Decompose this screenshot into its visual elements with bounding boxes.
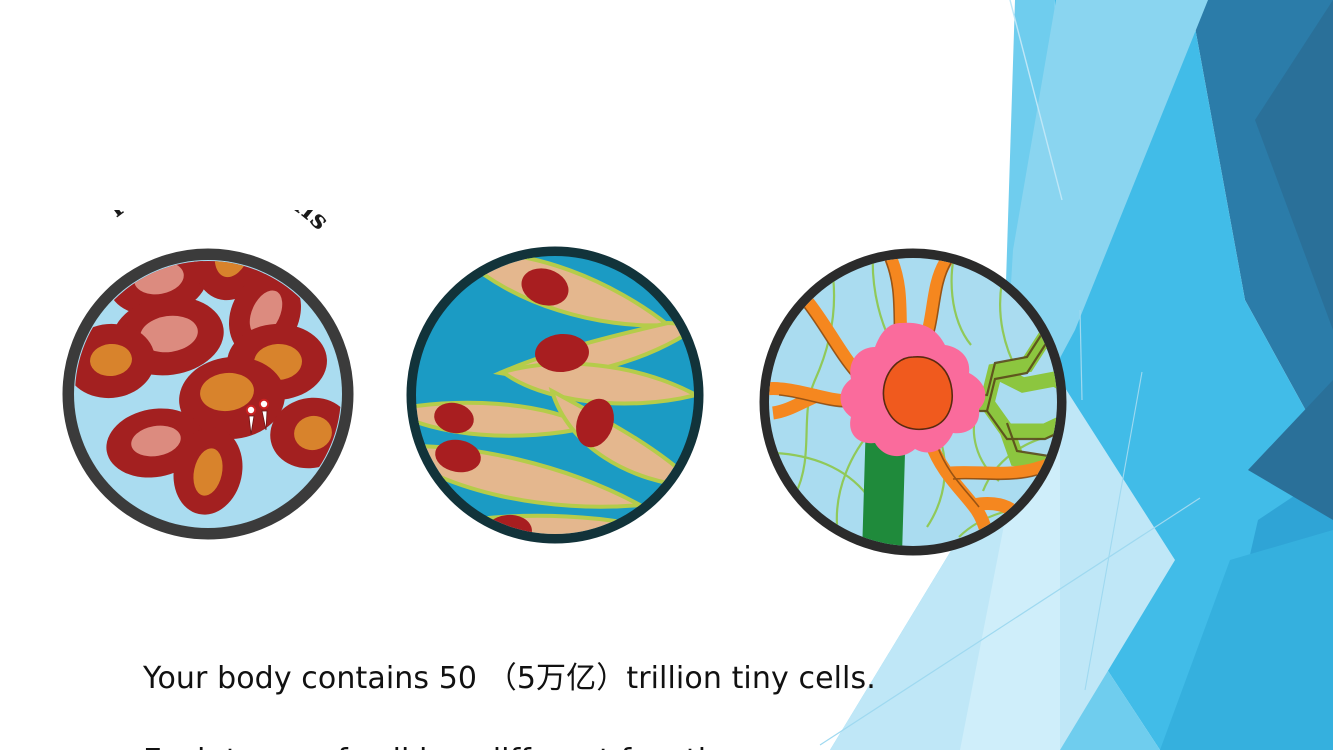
facet-shape-bottom-mid: [1160, 530, 1333, 750]
slide-canvas: red blood cells: [0, 0, 1333, 750]
caption-text-block: Your body contains 50 （5万亿）trillion tiny…: [143, 617, 973, 750]
diagram-red-blood-cells: red blood cells: [55, 210, 365, 555]
facet-hairline-2: [1080, 310, 1082, 400]
skin-cell: [438, 516, 675, 549]
label-red-blood-cells: red blood cells: [103, 210, 336, 236]
diagram-skin-cells: skin cells: [400, 205, 710, 550]
facet-shape-mid-band: [1035, 0, 1333, 750]
svg-text:red blood cells: red blood cells: [103, 210, 336, 236]
caption-line-1: Your body contains 50 （5万亿）trillion tiny…: [143, 658, 973, 699]
label-red-blood-cells-text: red blood cells: [103, 210, 336, 236]
nucleus: [883, 357, 952, 430]
label-nerve-cells: nerve cells: [832, 205, 1010, 211]
facet-shape-deep-right: [1190, 0, 1333, 460]
label-nerve-cells-text: nerve cells: [832, 205, 1010, 211]
nerve-cells-illustration: nerve cells: [755, 205, 1075, 565]
label-skin-cells: skin cells: [488, 205, 646, 212]
facet-shape-bottom-accent: [1248, 380, 1333, 520]
facet-hairline-4: [1085, 372, 1142, 690]
red-blood-cells-illustration: red blood cells: [55, 210, 365, 555]
label-skin-cells-text: skin cells: [488, 205, 646, 212]
facet-shape-deep-right-2: [1255, 0, 1333, 330]
skin-cells-illustration: skin cells: [400, 205, 710, 550]
caption-line-2: Each types of cell has different functio…: [143, 740, 973, 750]
diagram-nerve-cells: nerve cells: [755, 205, 1075, 565]
facet-shape-dark-bottom: [1205, 470, 1333, 750]
svg-text:nerve cells: nerve cells: [832, 205, 1010, 211]
facet-hairline-1: [1010, 0, 1062, 200]
svg-text:skin cells: skin cells: [488, 205, 646, 212]
